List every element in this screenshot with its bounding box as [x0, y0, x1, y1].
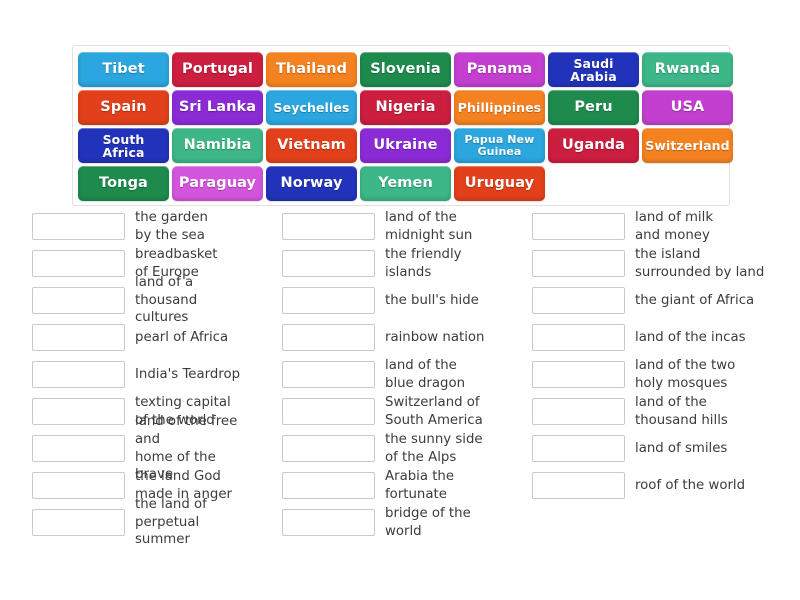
- country-tile[interactable]: Uruguay: [454, 166, 545, 201]
- answer-label: land of the incas: [635, 329, 746, 347]
- answer-drop-slot[interactable]: [532, 250, 625, 277]
- answer-label: India's Teardrop: [135, 366, 240, 384]
- answer-label: roof of the world: [635, 477, 745, 495]
- answer-label: Arabia the fortunate: [385, 468, 454, 503]
- country-tile[interactable]: USA: [642, 90, 733, 125]
- answer-row: roof of the world: [532, 467, 770, 504]
- answer-row: land of the free and home of the brave: [32, 430, 250, 467]
- answer-drop-slot[interactable]: [282, 324, 375, 351]
- answer-drop-slot[interactable]: [32, 213, 125, 240]
- answer-drop-slot[interactable]: [32, 250, 125, 277]
- answer-label: the garden by the sea: [135, 209, 208, 244]
- answer-drop-slot[interactable]: [282, 250, 375, 277]
- answer-row: the land of perpetual summer: [32, 504, 250, 541]
- answer-drop-slot[interactable]: [532, 435, 625, 462]
- country-tile[interactable]: Portugal: [172, 52, 263, 87]
- answer-label: the island surrounded by land: [635, 246, 764, 281]
- answer-row: the garden by the sea: [32, 208, 250, 245]
- country-tile[interactable]: Vietnam: [266, 128, 357, 163]
- answer-row: land of the midnight sun: [282, 208, 500, 245]
- answer-drop-slot[interactable]: [532, 398, 625, 425]
- answer-row: rainbow nation: [282, 319, 500, 356]
- answer-drop-slot[interactable]: [282, 361, 375, 388]
- answer-label: the friendly islands: [385, 246, 500, 281]
- answer-drop-slot[interactable]: [532, 324, 625, 351]
- country-tile[interactable]: Saudi Arabia: [548, 52, 639, 87]
- answer-label: the bull's hide: [385, 292, 479, 310]
- answer-column: the garden by the seabreadbasket of Euro…: [0, 208, 250, 541]
- answer-drop-slot[interactable]: [32, 398, 125, 425]
- country-tile[interactable]: Panama: [454, 52, 545, 87]
- tile-board: TibetPortugalThailandSloveniaPanamaSaudi…: [72, 45, 730, 206]
- answer-drop-slot[interactable]: [282, 472, 375, 499]
- answer-drop-slot[interactable]: [32, 287, 125, 314]
- answer-row: the island surrounded by land: [532, 245, 770, 282]
- answer-label: land of the thousand hills: [635, 394, 728, 429]
- answer-label: rainbow nation: [385, 329, 484, 347]
- answer-row: the giant of Africa: [532, 282, 770, 319]
- answer-column: land of the midnight sunthe friendly isl…: [250, 208, 500, 541]
- answer-row: the bull's hide: [282, 282, 500, 319]
- country-tile[interactable]: Ukraine: [360, 128, 451, 163]
- answer-row: the sunny side of the Alps: [282, 430, 500, 467]
- answer-label: pearl of Africa: [135, 329, 228, 347]
- answer-drop-slot[interactable]: [532, 472, 625, 499]
- answer-row: land of the incas: [532, 319, 770, 356]
- answer-row: India's Teardrop: [32, 356, 250, 393]
- answer-row: Switzerland of South America: [282, 393, 500, 430]
- answer-drop-slot[interactable]: [532, 213, 625, 240]
- tile-row: TongaParaguayNorwayYemenUruguay: [78, 166, 724, 201]
- answer-row: land of the two holy mosques: [532, 356, 770, 393]
- answer-label: land of smiles: [635, 440, 727, 458]
- tile-rows: TibetPortugalThailandSloveniaPanamaSaudi…: [78, 52, 724, 201]
- answer-drop-slot[interactable]: [32, 509, 125, 536]
- country-tile[interactable]: Sri Lanka: [172, 90, 263, 125]
- country-tile[interactable]: South Africa: [78, 128, 169, 163]
- answer-drop-slot[interactable]: [282, 287, 375, 314]
- country-tile[interactable]: Slovenia: [360, 52, 451, 87]
- answer-row: land of milk and money: [532, 208, 770, 245]
- answer-drop-slot[interactable]: [282, 398, 375, 425]
- country-tile[interactable]: Namibia: [172, 128, 263, 163]
- country-tile[interactable]: Norway: [266, 166, 357, 201]
- country-tile[interactable]: Paraguay: [172, 166, 263, 201]
- answer-row: Arabia the fortunate: [282, 467, 500, 504]
- answer-label: land of the midnight sun: [385, 209, 472, 244]
- country-tile[interactable]: Phillippines: [454, 90, 545, 125]
- answer-row: the friendly islands: [282, 245, 500, 282]
- answer-label: land of the blue dragon: [385, 357, 465, 392]
- answer-drop-slot[interactable]: [32, 472, 125, 499]
- answer-column: land of milk and moneythe island surroun…: [500, 208, 770, 541]
- answer-drop-slot[interactable]: [532, 361, 625, 388]
- answer-label: land of milk and money: [635, 209, 713, 244]
- country-tile[interactable]: Thailand: [266, 52, 357, 87]
- answer-drop-slot[interactable]: [532, 287, 625, 314]
- country-tile[interactable]: Nigeria: [360, 90, 451, 125]
- country-tile[interactable]: Yemen: [360, 166, 451, 201]
- country-tile[interactable]: Tonga: [78, 166, 169, 201]
- answer-drop-slot[interactable]: [282, 509, 375, 536]
- answer-columns: the garden by the seabreadbasket of Euro…: [0, 208, 800, 541]
- answer-label: the giant of Africa: [635, 292, 754, 310]
- country-tile[interactable]: Uganda: [548, 128, 639, 163]
- country-tile[interactable]: Spain: [78, 90, 169, 125]
- answer-drop-slot[interactable]: [282, 213, 375, 240]
- country-tile[interactable]: Peru: [548, 90, 639, 125]
- answer-row: land of a thousand cultures: [32, 282, 250, 319]
- answer-row: pearl of Africa: [32, 319, 250, 356]
- answer-label: land of the two holy mosques: [635, 357, 735, 392]
- tile-row: TibetPortugalThailandSloveniaPanamaSaudi…: [78, 52, 724, 87]
- answer-label: bridge of the world: [385, 505, 500, 540]
- answer-drop-slot[interactable]: [32, 435, 125, 462]
- answer-label: the sunny side of the Alps: [385, 431, 483, 466]
- answer-drop-slot[interactable]: [32, 324, 125, 351]
- answer-drop-slot[interactable]: [32, 361, 125, 388]
- country-tile[interactable]: Rwanda: [642, 52, 733, 87]
- country-tile[interactable]: Switzerland: [642, 128, 733, 163]
- answer-row: bridge of the world: [282, 504, 500, 541]
- country-tile[interactable]: Papua New Guinea: [454, 128, 545, 163]
- tile-row: SpainSri LankaSeychellesNigeriaPhillippi…: [78, 90, 724, 125]
- answer-row: land of smiles: [532, 430, 770, 467]
- answer-label: Switzerland of South America: [385, 394, 483, 429]
- tile-row: South AfricaNamibiaVietnamUkrainePapua N…: [78, 128, 724, 163]
- country-tile[interactable]: Seychelles: [266, 90, 357, 125]
- answer-row: land of the thousand hills: [532, 393, 770, 430]
- answer-drop-slot[interactable]: [282, 435, 375, 462]
- answer-row: land of the blue dragon: [282, 356, 500, 393]
- answer-label: the land of perpetual summer: [135, 496, 250, 549]
- country-tile[interactable]: Tibet: [78, 52, 169, 87]
